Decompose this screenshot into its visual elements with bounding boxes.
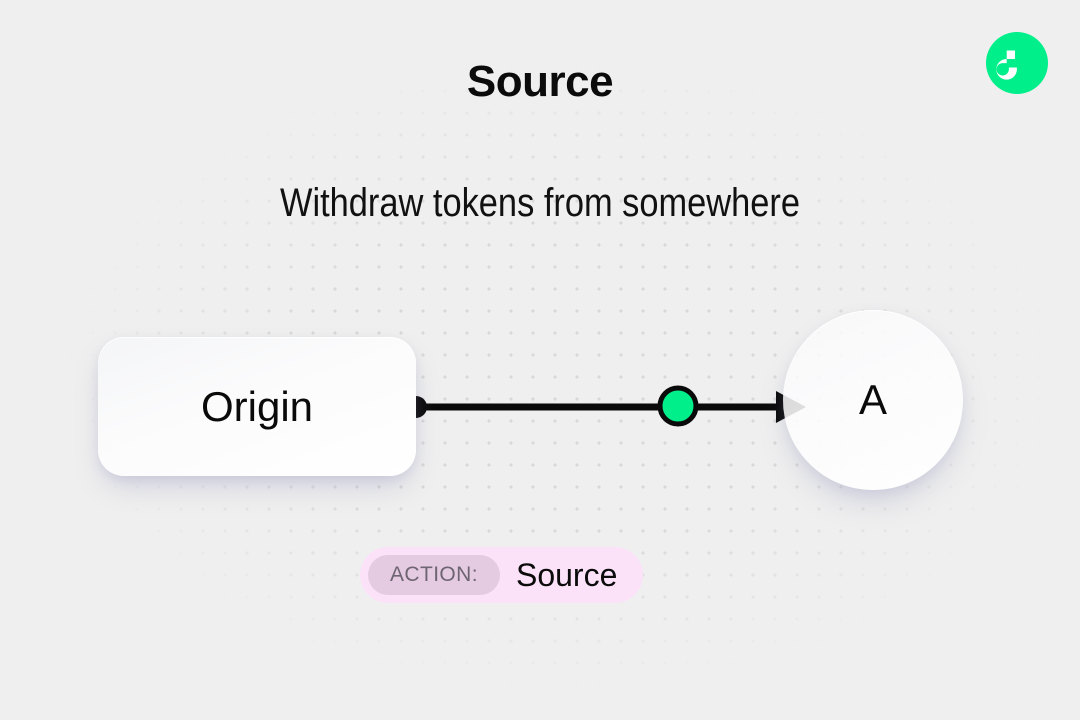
action-badge-key: ACTION: — [368, 555, 500, 595]
node-a[interactable]: A — [783, 310, 963, 490]
action-badge[interactable]: ACTION: Source — [360, 547, 643, 603]
diagram-canvas: Origin A — [0, 0, 1080, 720]
edge-origin-to-a[interactable] — [405, 388, 806, 424]
node-origin-label: Origin — [201, 383, 313, 431]
edge-midpoint-marker-icon[interactable] — [660, 388, 696, 424]
node-origin[interactable]: Origin — [98, 337, 416, 476]
action-badge-value: Source — [516, 557, 621, 594]
node-a-label: A — [859, 376, 887, 424]
